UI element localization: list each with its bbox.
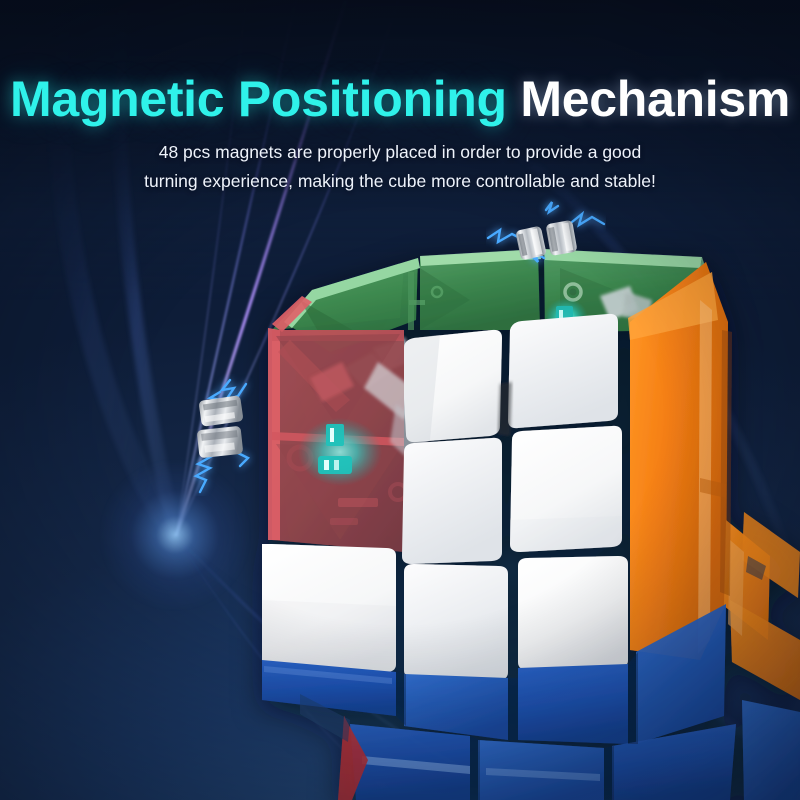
product-feature-banner: Magnetic Positioning Mechanism 48 pcs ma… xyxy=(0,0,800,800)
page-subtitle: 48 pcs magnets are properly placed in or… xyxy=(96,138,704,196)
title-highlight: Magnetic Positioning xyxy=(10,71,507,127)
subtitle-line-2: turning experience, making the cube more… xyxy=(96,167,704,196)
subtitle-line-1: 48 pcs magnets are properly placed in or… xyxy=(159,142,642,162)
title-plain: Mechanism xyxy=(520,71,790,127)
page-title: Magnetic Positioning Mechanism xyxy=(0,70,800,128)
